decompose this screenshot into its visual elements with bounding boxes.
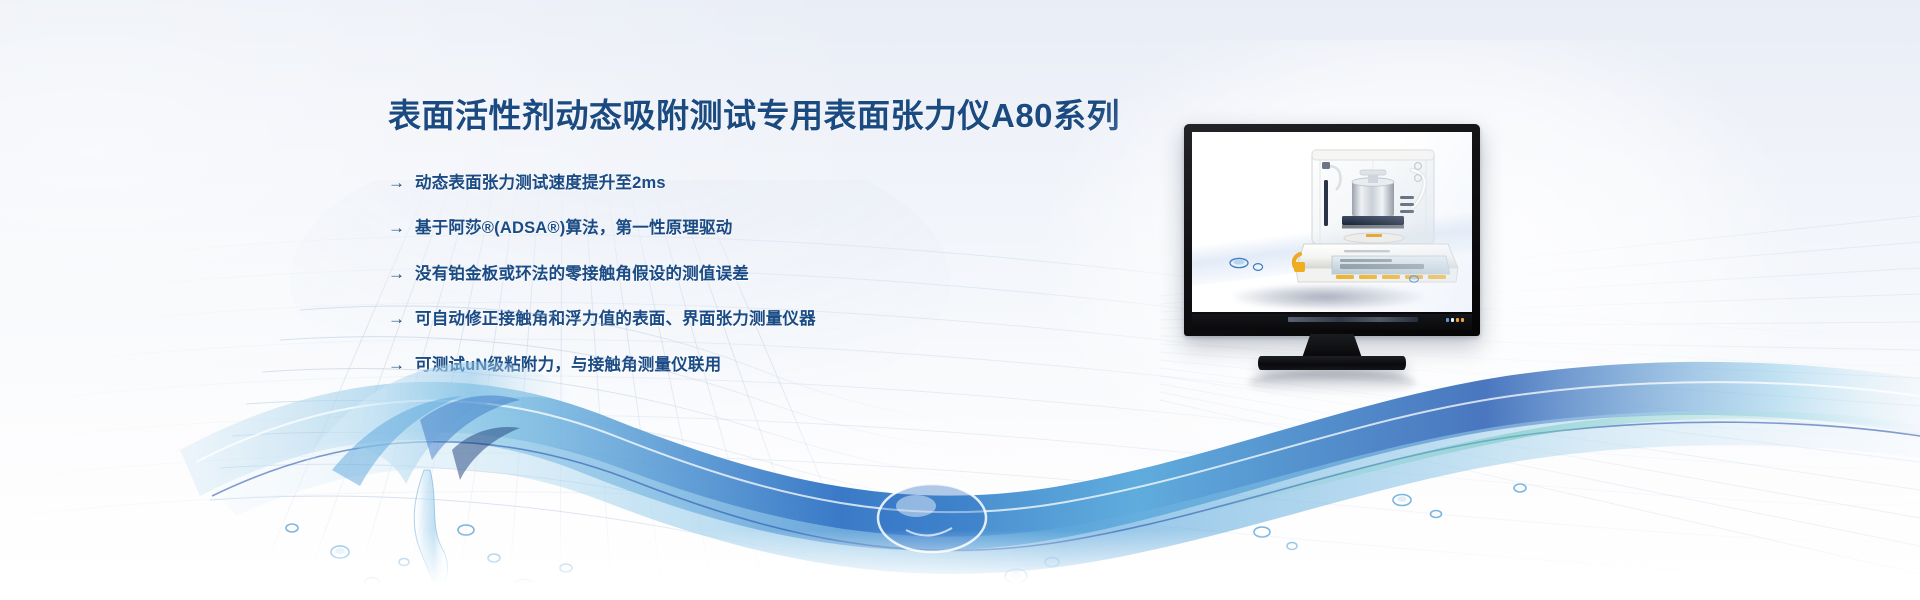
arrow-right-icon: → (388, 219, 405, 236)
arrow-right-icon: → (388, 174, 405, 191)
monitor-screen (1192, 132, 1472, 312)
monitor-bezel (1184, 124, 1480, 336)
monitor-reflection (1248, 370, 1416, 396)
list-item-label: 可测试uN级粘附力，与接触角测量仪联用 (415, 357, 721, 374)
list-item: → 可自动修正接触角和浮力值的表面、界面张力测量仪器 (388, 310, 1208, 328)
list-item: → 动态表面张力测试速度提升至2ms (388, 174, 1208, 192)
water-droplet-icon (1252, 262, 1264, 272)
water-droplet-icon (1408, 274, 1420, 284)
monitor-indicator-leds (1446, 318, 1464, 322)
page-title: 表面活性剂动态吸附测试专用表面张力仪A80系列 (388, 96, 1208, 136)
hero-text-column: 表面活性剂动态吸附测试专用表面张力仪A80系列 → 动态表面张力测试速度提升至2… (388, 96, 1208, 401)
monitor-stand-base (1258, 356, 1406, 370)
bottom-fade-overlay (0, 530, 1920, 600)
monitor-chin (1192, 314, 1472, 330)
list-item-label: 可自动修正接触角和浮力值的表面、界面张力测量仪器 (415, 311, 816, 328)
list-item-label: 基于阿莎®(ADSA®)算法，第一性原理驱动 (415, 220, 732, 237)
feature-bullet-list: → 动态表面张力测试速度提升至2ms → 基于阿莎®(ADSA®)算法，第一性原… (388, 174, 1208, 374)
list-item: → 可测试uN级粘附力，与接触角测量仪联用 (388, 356, 1208, 374)
water-droplet-icon (1228, 256, 1254, 270)
monitor-brand-logo (1288, 317, 1418, 322)
monitor-stand-neck (1302, 334, 1362, 358)
list-item: → 没有铂金板或环法的零接触角假设的测值误差 (388, 265, 1208, 283)
lcd-monitor (1184, 124, 1480, 354)
arrow-right-icon: → (388, 356, 405, 373)
list-item-label: 动态表面张力测试速度提升至2ms (415, 175, 666, 192)
list-item: → 基于阿莎®(ADSA®)算法，第一性原理驱动 (388, 219, 1208, 237)
arrow-right-icon: → (388, 310, 405, 327)
product-hero-banner: 表面活性剂动态吸附测试专用表面张力仪A80系列 → 动态表面张力测试速度提升至2… (0, 0, 1920, 600)
product-instrument-graphic (1288, 142, 1466, 307)
arrow-right-icon: → (388, 265, 405, 282)
list-item-label: 没有铂金板或环法的零接触角假设的测值误差 (415, 266, 749, 283)
